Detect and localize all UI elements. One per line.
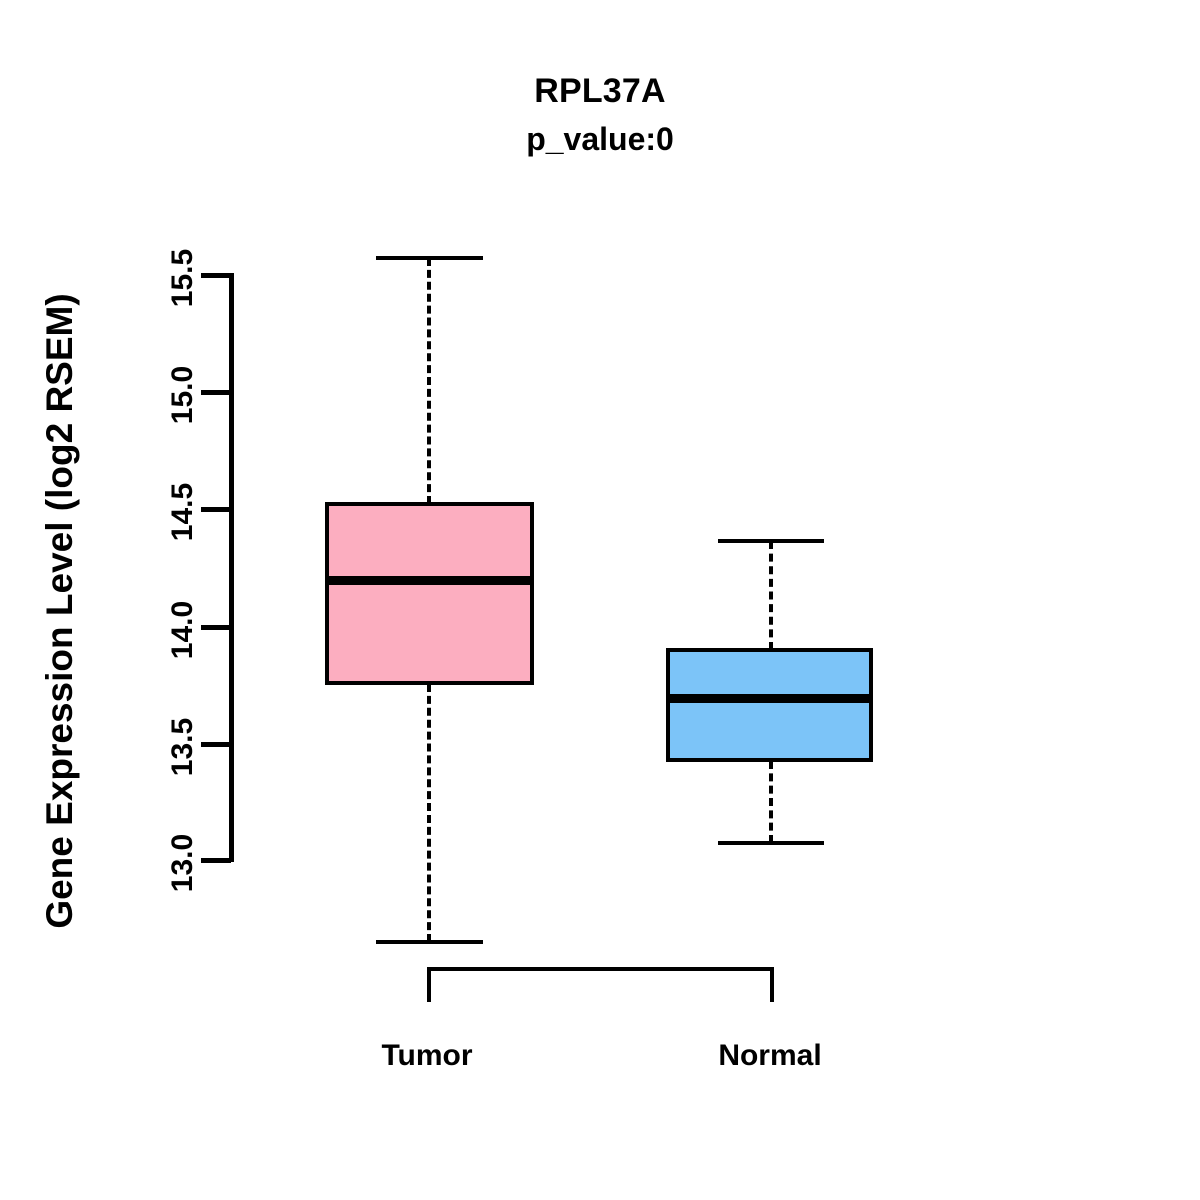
x-tick-label-tumor: Tumor xyxy=(307,1039,547,1073)
boxplot-figure: RPL37A p_value:0 Gene Expression Level (… xyxy=(0,0,1200,1200)
tumor-lower-whisker xyxy=(427,684,431,942)
y-tick-label-13.0: 13.0 xyxy=(166,793,200,933)
y-tick-mark-14.5 xyxy=(201,507,231,512)
x-tick-label-normal: Normal xyxy=(650,1039,890,1073)
normal-lower-whisker-cap xyxy=(718,841,824,845)
tumor-box-rect xyxy=(325,502,534,685)
y-axis-label: Gene Expression Level (log2 RSEM) xyxy=(39,191,81,1031)
y-tick-mark-13.0 xyxy=(201,858,231,863)
y-tick-mark-15.0 xyxy=(201,390,231,395)
y-tick-mark-13.5 xyxy=(201,742,231,747)
normal-lower-whisker xyxy=(769,761,773,843)
tumor-lower-whisker-cap xyxy=(376,940,483,944)
y-tick-mark-15.5 xyxy=(201,273,231,278)
normal-box-rect xyxy=(666,648,873,762)
normal-upper-whisker-cap xyxy=(718,539,824,543)
y-axis-line xyxy=(229,273,234,862)
normal-median-line xyxy=(666,694,873,703)
tumor-median-line xyxy=(325,576,534,585)
tumor-upper-whisker-cap xyxy=(376,256,483,260)
y-tick-mark-14.0 xyxy=(201,625,231,630)
chart-title: RPL37A xyxy=(0,72,1200,111)
normal-upper-whisker xyxy=(769,541,773,650)
x-axis-tick-tumor xyxy=(427,967,431,1002)
x-axis-line xyxy=(427,967,774,971)
chart-subtitle: p_value:0 xyxy=(0,121,1200,158)
x-axis-tick-normal xyxy=(770,967,774,1002)
tumor-upper-whisker xyxy=(427,258,431,504)
